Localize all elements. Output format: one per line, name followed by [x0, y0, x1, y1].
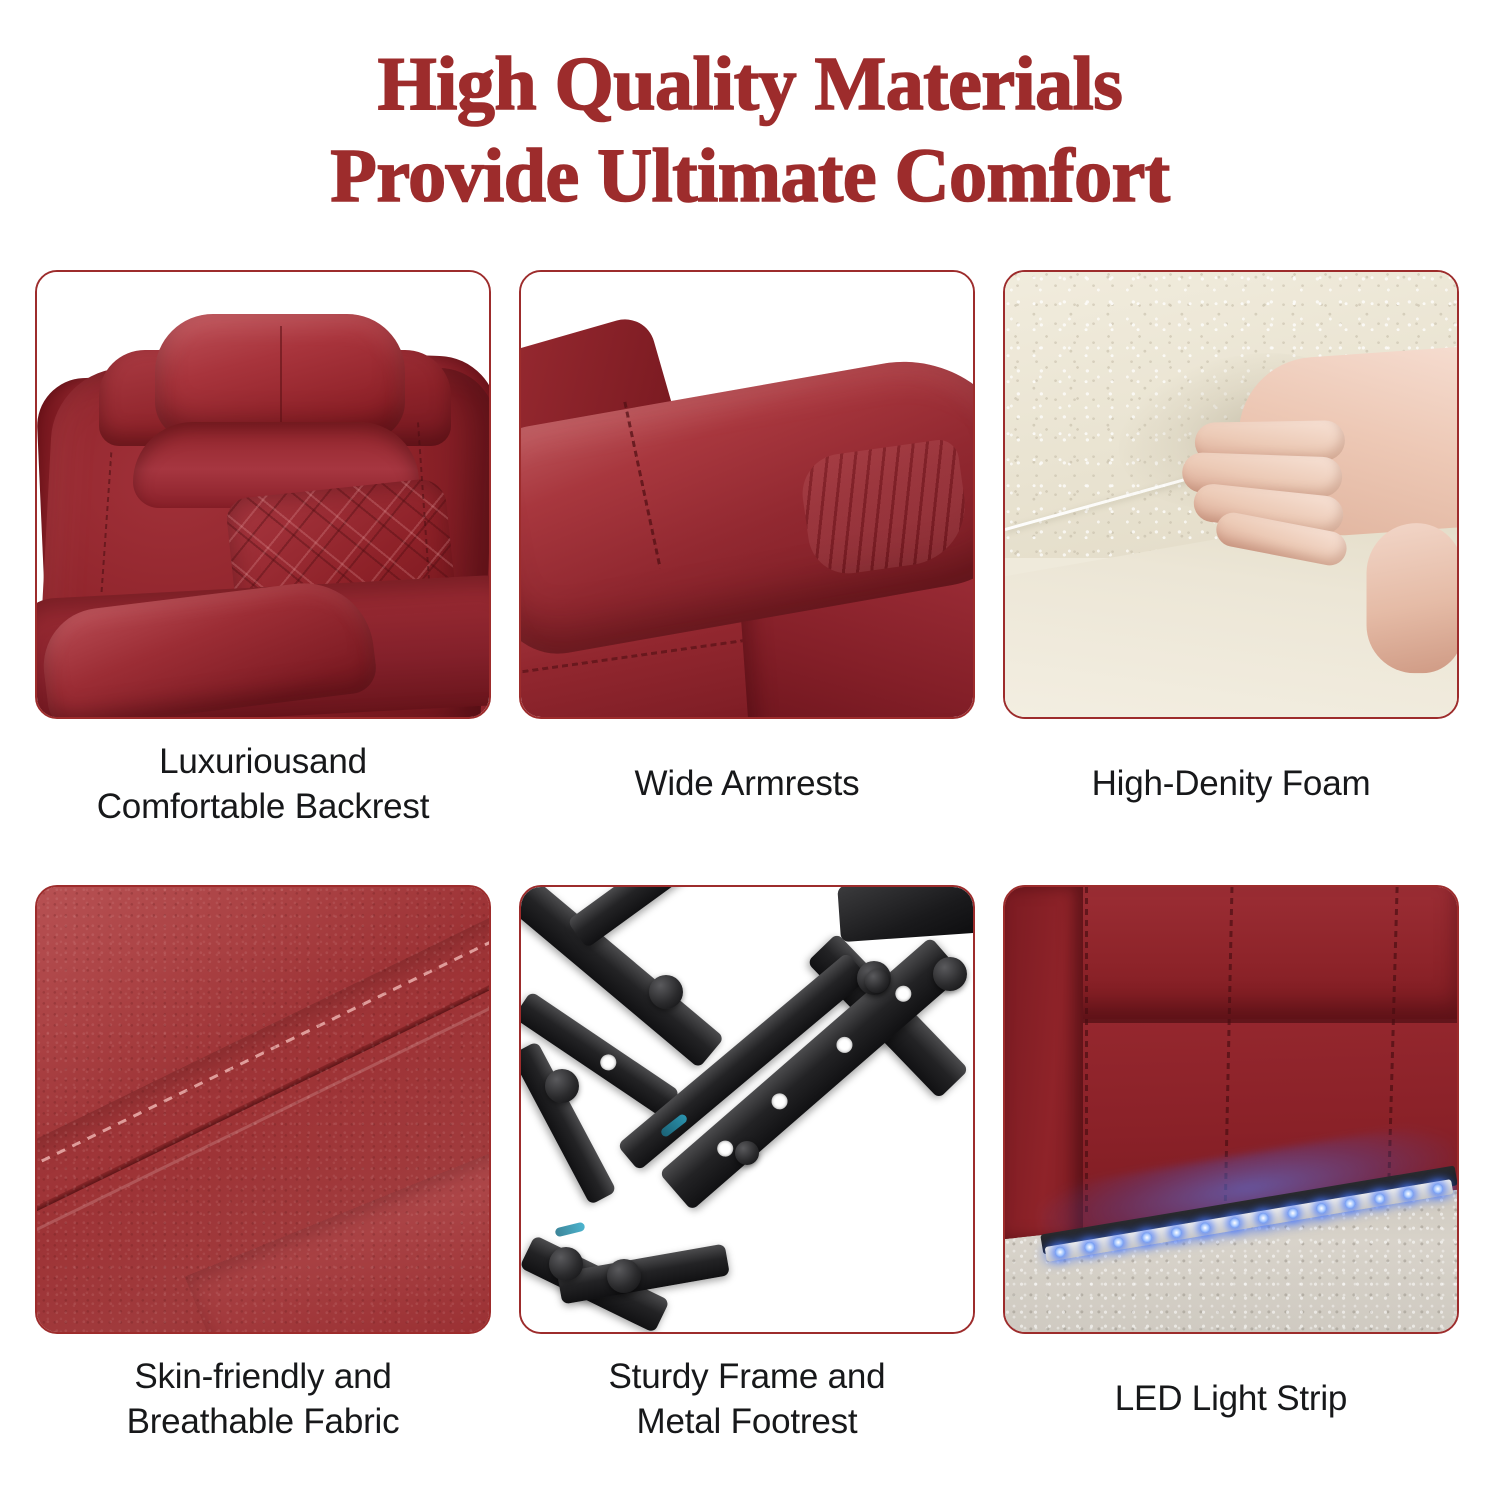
frame-hole	[714, 1137, 737, 1160]
leather-seam-main	[37, 895, 489, 1268]
frame-bolt	[545, 1069, 579, 1103]
armrest-photo	[521, 272, 973, 717]
feature-card-led[interactable]: LED Light Strip	[1003, 885, 1463, 1421]
led-dot	[1112, 1236, 1125, 1249]
leather-stitch-upper	[37, 887, 489, 1222]
leather-seam-highlight	[37, 917, 489, 1288]
frame-hole	[768, 1090, 791, 1113]
frame-bolt	[549, 1247, 583, 1281]
frame-hole	[597, 1051, 619, 1073]
led-dot	[1228, 1217, 1241, 1230]
feature-card-frame[interactable]: Sturdy Frame and Metal Footrest	[519, 885, 979, 1444]
frame-bar-upper-diagonal	[567, 887, 773, 949]
frame-top-pad	[837, 887, 973, 942]
feature-caption: LED Light Strip	[1003, 1354, 1459, 1421]
feature-caption-line-1: Sturdy Frame and	[519, 1354, 975, 1399]
feature-caption-line-1: Skin-friendly and	[35, 1354, 491, 1399]
chair-vertical-seam	[1085, 887, 1088, 1217]
frame-bushing-teal	[554, 1222, 585, 1238]
feature-caption: Luxuriousand Comfortable Backrest	[35, 739, 491, 829]
feature-image-frame	[519, 885, 975, 1334]
feature-image-frame	[35, 270, 491, 719]
feature-image-frame	[519, 270, 975, 719]
feature-caption-line-2: Metal Footrest	[519, 1399, 975, 1444]
feature-card-foam[interactable]: High-Denity Foam	[1003, 270, 1463, 806]
feature-card-backrest[interactable]: Luxuriousand Comfortable Backrest	[35, 270, 495, 829]
led-dot	[1373, 1192, 1386, 1205]
page-title: High Quality Materials Provide Ultimate …	[0, 38, 1500, 222]
led-strip-photo	[1005, 887, 1457, 1332]
frame-hole	[833, 1034, 856, 1057]
metal-frame-photo	[521, 887, 973, 1332]
feature-caption: Sturdy Frame and Metal Footrest	[519, 1354, 975, 1444]
feature-image-frame	[35, 885, 491, 1334]
feature-caption: High-Denity Foam	[1003, 739, 1459, 806]
leather-texture-photo	[37, 887, 489, 1332]
led-dot	[1344, 1197, 1357, 1210]
feature-caption-line-1: Luxuriousand	[35, 739, 491, 784]
frame-bolt	[933, 957, 967, 991]
page-title-line-1: High Quality Materials	[0, 38, 1500, 130]
led-dot	[1257, 1212, 1270, 1225]
foam-photo	[1005, 272, 1457, 717]
frame-bolt-small	[865, 969, 889, 993]
led-dot	[1141, 1231, 1154, 1244]
leather-stitch-lower	[37, 1174, 489, 1332]
feature-image-frame	[1003, 270, 1459, 719]
leather-upper-panel	[37, 887, 489, 1150]
led-dot	[1402, 1187, 1415, 1200]
feature-caption-line-1: LED Light Strip	[1003, 1376, 1459, 1421]
page-title-line-2: Provide Ultimate Comfort	[0, 130, 1500, 222]
feature-card-fabric[interactable]: Skin-friendly and Breathable Fabric	[35, 885, 495, 1444]
frame-hole	[892, 982, 915, 1005]
feature-image-frame	[1003, 885, 1459, 1334]
feature-caption-line-1: Wide Armrests	[519, 761, 975, 806]
hand-pressing-foam	[1144, 316, 1457, 659]
leather-lower-edge-panel	[185, 1142, 489, 1332]
feature-caption: Wide Armrests	[519, 739, 975, 806]
led-dot	[1286, 1207, 1299, 1220]
frame-hole	[643, 887, 665, 890]
finger-thumb	[1367, 523, 1457, 673]
frame-bolt-small	[735, 1141, 759, 1165]
feature-grid: Luxuriousand Comfortable Backrest Wide A…	[35, 270, 1468, 1460]
feature-caption: Skin-friendly and Breathable Fabric	[35, 1354, 491, 1444]
feature-caption-line-2: Comfortable Backrest	[35, 784, 491, 829]
frame-bolt	[607, 1259, 641, 1293]
led-dot	[1431, 1183, 1444, 1196]
backrest-photo	[37, 272, 489, 717]
led-dot	[1083, 1241, 1096, 1254]
infographic-page: High Quality Materials Provide Ultimate …	[0, 0, 1500, 1500]
led-dot	[1315, 1202, 1328, 1215]
feature-card-armrests[interactable]: Wide Armrests	[519, 270, 979, 806]
led-dot	[1199, 1221, 1212, 1234]
frame-bolt	[649, 975, 683, 1009]
feature-caption-line-2: Breathable Fabric	[35, 1399, 491, 1444]
led-dot	[1170, 1226, 1183, 1239]
led-dot	[1054, 1246, 1067, 1259]
feature-caption-line-1: High-Denity Foam	[1003, 761, 1459, 806]
